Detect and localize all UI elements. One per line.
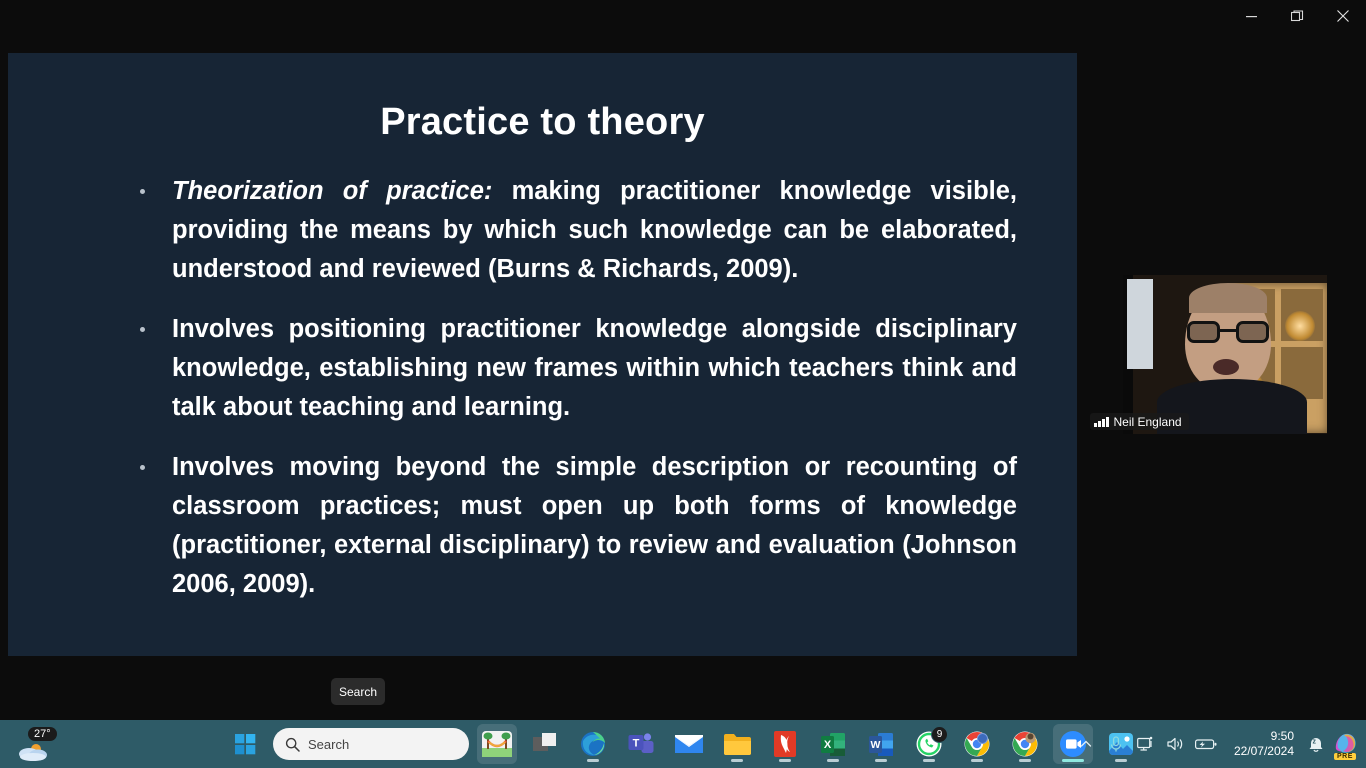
- search-icon: [285, 737, 300, 752]
- screen-cast-button[interactable]: [1132, 728, 1160, 760]
- taskbar-item-task-view[interactable]: [525, 724, 565, 764]
- start-button[interactable]: [225, 724, 265, 764]
- window-titlebar: [0, 0, 1366, 45]
- whatsapp-badge-count: 9: [931, 726, 948, 743]
- svg-text:X: X: [824, 739, 832, 751]
- copilot-button[interactable]: PRE: [1332, 728, 1360, 760]
- running-indicator: [1019, 759, 1031, 762]
- microsoft-word-icon: W: [869, 732, 893, 757]
- volume-icon: [1167, 736, 1185, 752]
- desktop-screen: Practice to theory Theorization of pract…: [0, 0, 1366, 768]
- bullet-dot-icon: [140, 465, 145, 470]
- restore-button[interactable]: [1274, 0, 1320, 32]
- mail-icon: [675, 733, 703, 755]
- minimize-button[interactable]: [1228, 0, 1274, 32]
- taskbar-item-paint[interactable]: [477, 724, 517, 764]
- clock-time: 9:50: [1226, 729, 1294, 744]
- taskbar-item-pdf-reader[interactable]: [765, 724, 805, 764]
- running-indicator: [827, 759, 839, 762]
- taskbar-search-placeholder: Search: [308, 737, 349, 752]
- windows-logo-icon: [235, 734, 256, 755]
- bullet-lead-text: Theorization of practice:: [172, 177, 492, 205]
- bullet-item: Involves positioning practitioner knowle…: [128, 310, 1017, 427]
- hammock-picture-icon: [482, 731, 512, 757]
- battery-button[interactable]: [1192, 728, 1220, 760]
- running-indicator: [875, 759, 887, 762]
- battery-icon: [1195, 737, 1217, 751]
- taskbar: 27° Search: [0, 720, 1366, 768]
- folder-icon: [724, 733, 751, 756]
- chevron-up-icon: [1080, 738, 1092, 750]
- participant-name: Neil England: [1114, 415, 1182, 429]
- video-feed: [1123, 275, 1327, 434]
- running-indicator: [731, 759, 743, 762]
- taskbar-search-box[interactable]: Search: [273, 728, 469, 760]
- svg-text:z: z: [1313, 739, 1317, 746]
- show-hidden-icons-button[interactable]: [1072, 728, 1100, 760]
- video-participant-tile[interactable]: [1123, 275, 1327, 434]
- volume-button[interactable]: [1162, 728, 1190, 760]
- svg-text:W: W: [871, 739, 881, 751]
- google-chrome-icon: [964, 731, 990, 757]
- running-indicator: [923, 759, 935, 762]
- bullet-item: Theorization of practice: making practit…: [128, 172, 1017, 289]
- microphone-icon: [1108, 735, 1124, 753]
- google-chrome-icon: [1012, 731, 1038, 757]
- microsoft-edge-icon: [580, 731, 606, 757]
- taskbar-clock[interactable]: 9:50 22/07/2024: [1222, 729, 1300, 759]
- running-indicator: [971, 759, 983, 762]
- microsoft-excel-icon: X: [821, 732, 845, 757]
- presentation-slide[interactable]: Practice to theory Theorization of pract…: [8, 53, 1077, 656]
- taskbar-item-mail[interactable]: [669, 724, 709, 764]
- taskbar-item-teams[interactable]: T: [621, 724, 661, 764]
- bullet-text: Involves moving beyond the simple descri…: [172, 453, 1017, 598]
- do-not-disturb-bell-icon: z: [1306, 735, 1326, 753]
- running-indicator: [779, 759, 791, 762]
- bullet-text: Involves positioning practitioner knowle…: [172, 315, 1017, 421]
- search-button[interactable]: Search: [331, 678, 385, 705]
- microsoft-teams-icon: T: [628, 732, 654, 756]
- taskbar-item-whatsapp[interactable]: 9: [909, 724, 949, 764]
- microphone-button[interactable]: [1102, 728, 1130, 760]
- participant-name-badge: Neil England: [1090, 413, 1189, 430]
- running-indicator: [587, 759, 599, 762]
- taskbar-item-chrome-1[interactable]: [957, 724, 997, 764]
- slide-title: Practice to theory: [8, 101, 1077, 144]
- copilot-preview-badge: PRE: [1334, 753, 1356, 760]
- clock-date: 22/07/2024: [1226, 744, 1294, 759]
- taskbar-item-chrome-2[interactable]: [1005, 724, 1045, 764]
- taskbar-item-excel[interactable]: X: [813, 724, 853, 764]
- signal-bars-icon: [1094, 417, 1109, 427]
- screen-cast-icon: [1137, 736, 1155, 752]
- bullet-item: Involves moving beyond the simple descri…: [128, 448, 1017, 604]
- notifications-button[interactable]: z: [1302, 728, 1330, 760]
- close-button[interactable]: [1320, 0, 1366, 32]
- task-view-icon: [533, 733, 557, 755]
- bullet-dot-icon: [140, 189, 145, 194]
- taskbar-item-word[interactable]: W: [861, 724, 901, 764]
- svg-text:T: T: [633, 738, 640, 750]
- taskbar-item-file-explorer[interactable]: [717, 724, 757, 764]
- slide-body: Theorization of practice: making practit…: [128, 172, 1017, 604]
- nitro-pdf-icon: [773, 731, 797, 757]
- bullet-dot-icon: [140, 327, 145, 332]
- taskbar-item-edge[interactable]: [573, 724, 613, 764]
- system-tray: 9:50 22/07/2024 z P: [1072, 720, 1366, 768]
